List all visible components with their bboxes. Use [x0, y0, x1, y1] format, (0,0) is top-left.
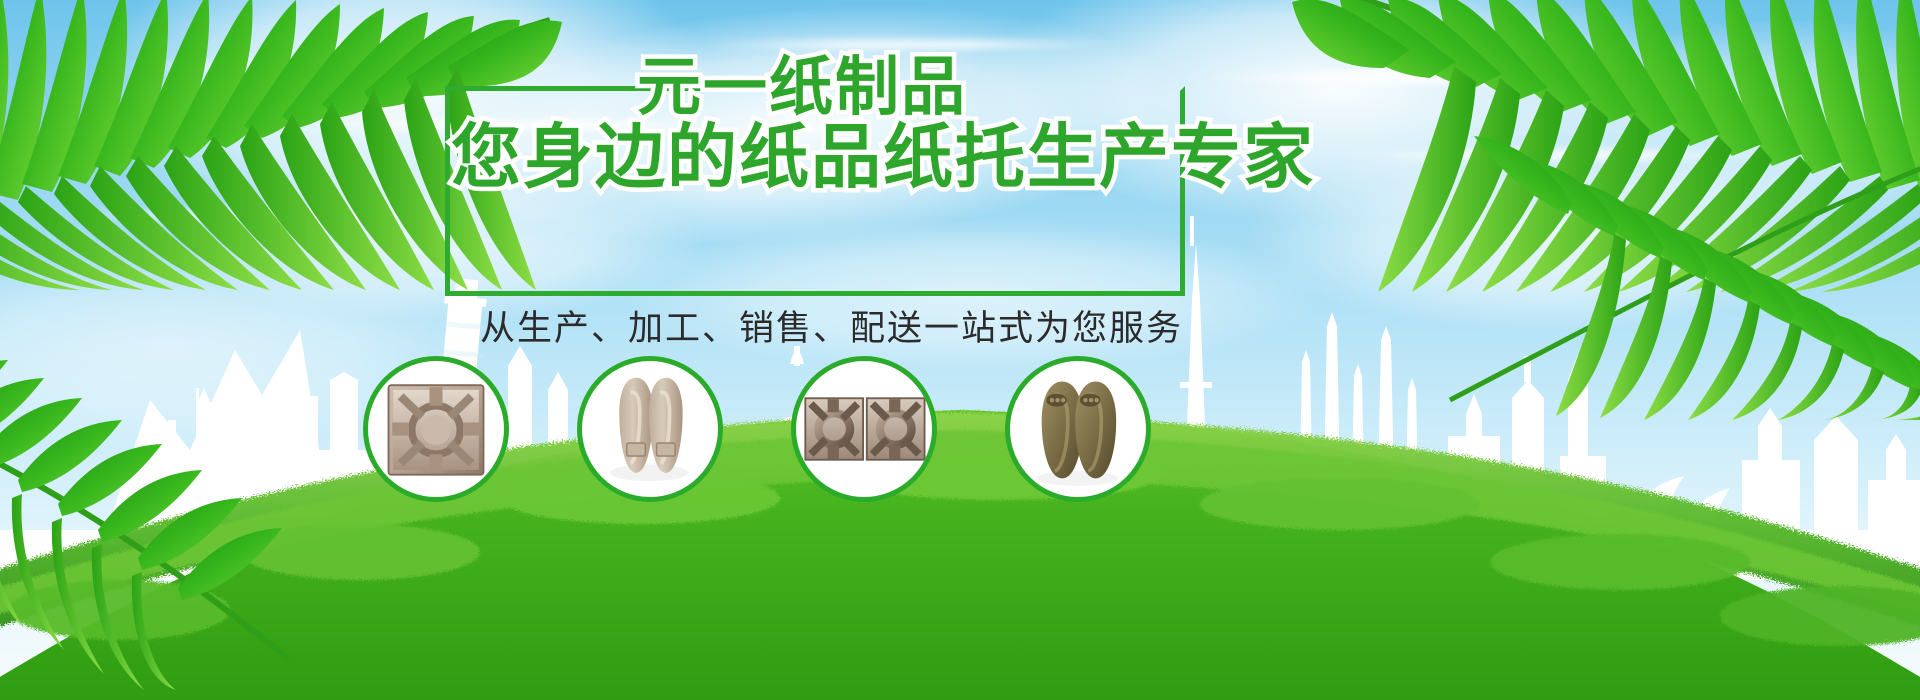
- page-title: 您身边的纸品纸托生产专家: [451, 122, 1315, 192]
- paper-pulp-shoe-inserts-icon: [582, 361, 718, 497]
- product-thumbnail-paper-pulp-tray-pair[interactable]: [791, 356, 937, 502]
- cloud-decoration: [1520, 20, 1920, 240]
- paper-pulp-tray-pair-icon: [796, 361, 932, 497]
- cloud-streak: [1320, 150, 1800, 160]
- cloud-streak: [120, 60, 580, 74]
- product-thumbnail-paper-pulp-tray-square[interactable]: [363, 356, 509, 502]
- cloud-streak: [1180, 70, 1740, 84]
- cloud-streak: [60, 210, 480, 221]
- paper-pulp-tray-square-icon: [368, 361, 504, 497]
- headline-block: 元一纸制品 您身边的纸品纸托生产专家: [445, 86, 1185, 296]
- promotional-banner: 元一纸制品 您身边的纸品纸托生产专家 从生产、加工、销售、配送一站式为您服务: [0, 0, 1920, 700]
- product-thumbnail-paper-pulp-shoe-trees[interactable]: [1005, 356, 1151, 502]
- palm-leaf-icon: [1280, 0, 1920, 300]
- paper-pulp-shoe-trees-icon: [1010, 361, 1146, 497]
- subtitle: 从生产、加工、销售、配送一站式为您服务: [480, 300, 1160, 351]
- palm-leaf-icon: [0, 360, 300, 690]
- product-thumbnail-paper-pulp-shoe-inserts[interactable]: [577, 356, 723, 502]
- cloud-decoration: [1250, 140, 1850, 330]
- cloud-streak: [700, 40, 1120, 49]
- brand-name: 元一纸制品: [637, 56, 967, 120]
- palm-leaf-icon: [1430, 120, 1920, 420]
